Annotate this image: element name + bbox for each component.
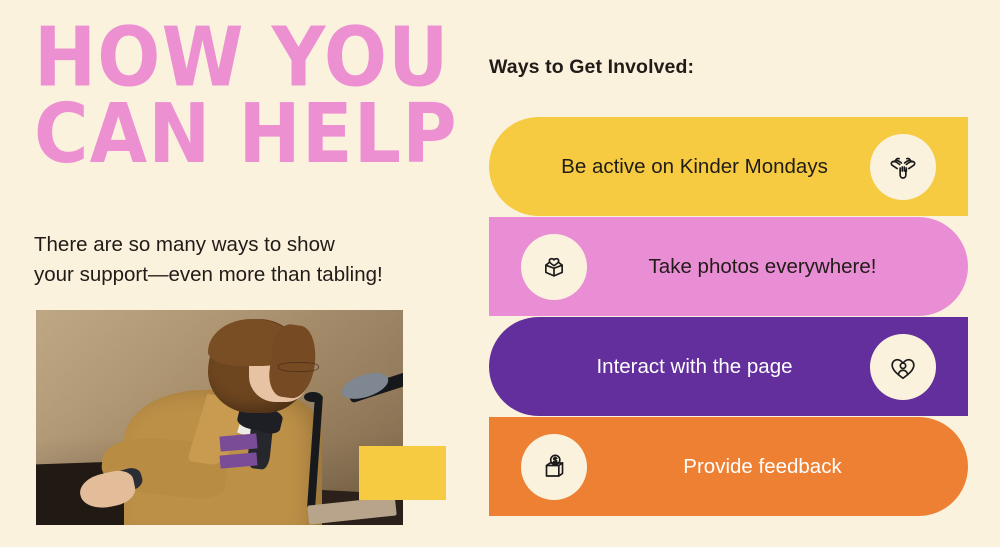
donation-box-coin-icon bbox=[521, 434, 587, 500]
three-hands-teamwork-icon bbox=[870, 134, 936, 200]
list-item-label: Interact with the page bbox=[489, 355, 870, 379]
yellow-accent-rectangle bbox=[359, 446, 446, 500]
involvement-list: Be active on Kinder Mondays bbox=[489, 117, 968, 517]
speaker-photo bbox=[36, 310, 403, 525]
page-title: HOW YOU CAN HELP bbox=[34, 20, 521, 174]
list-item-label: Be active on Kinder Mondays bbox=[489, 155, 870, 179]
person-in-heart-icon bbox=[870, 334, 936, 400]
photo-image bbox=[36, 310, 403, 525]
list-item-label: Take photos everywhere! bbox=[587, 255, 968, 279]
list-item-take-photos[interactable]: Take photos everywhere! bbox=[489, 217, 968, 316]
list-item-label: Provide feedback bbox=[587, 455, 968, 479]
subtitle-text: There are so many ways to show your supp… bbox=[34, 230, 434, 289]
ways-to-get-involved-heading: Ways to Get Involved: bbox=[489, 56, 694, 79]
photo-badge-upper bbox=[219, 433, 257, 451]
slide-canvas: HOW YOU CAN HELP There are so many ways … bbox=[0, 0, 1000, 547]
list-item-interact[interactable]: Interact with the page bbox=[489, 317, 968, 416]
list-item-be-active[interactable]: Be active on Kinder Mondays bbox=[489, 117, 968, 216]
open-box-heart-icon bbox=[521, 234, 587, 300]
photo-glasses bbox=[278, 362, 318, 373]
list-item-provide-feedback[interactable]: Provide feedback bbox=[489, 417, 968, 516]
